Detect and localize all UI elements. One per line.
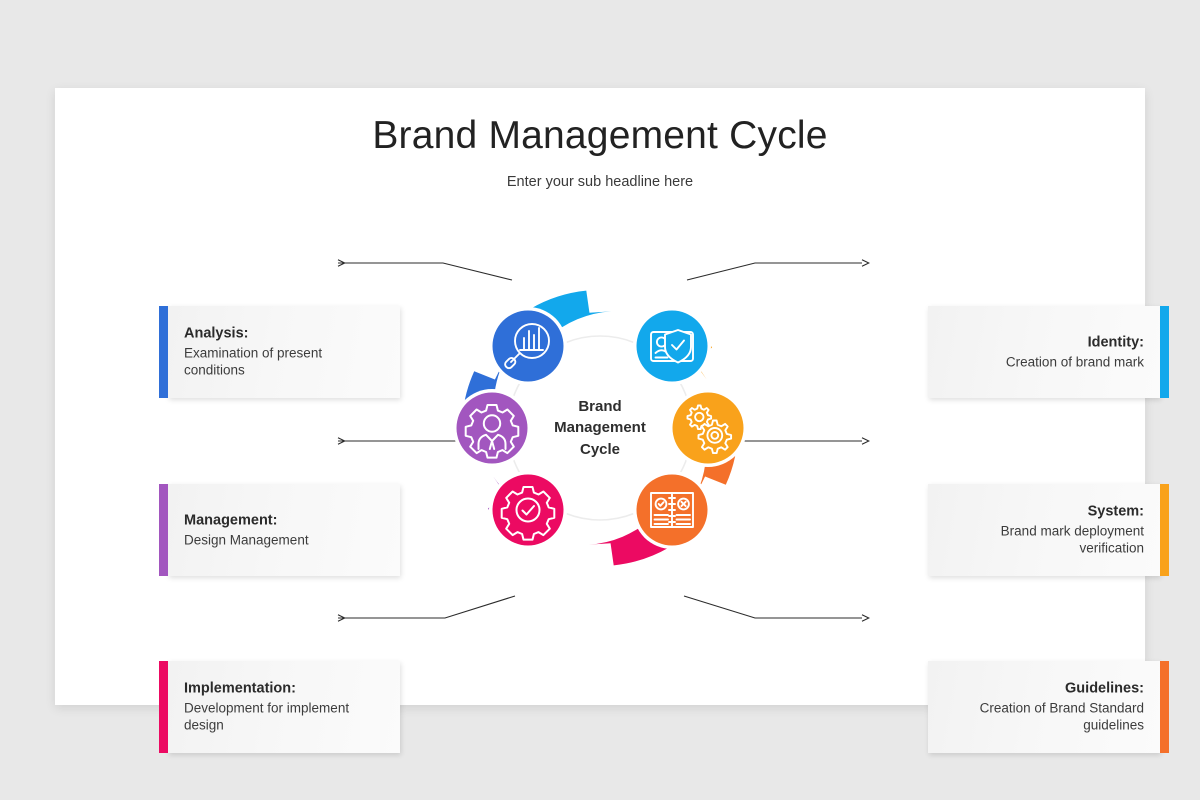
card-text: Identity: Creation of brand mark (944, 333, 1144, 370)
cycle-node-analysis-circle[interactable] (493, 311, 564, 382)
cycle-node-identity[interactable] (633, 307, 711, 385)
cycle-node-analysis[interactable] (489, 307, 567, 385)
card-text: Implementation: Development for implemen… (184, 680, 384, 735)
page-subtitle: Enter your sub headline here (55, 174, 1145, 190)
cycle-node-management-circle[interactable] (457, 393, 528, 464)
card-system[interactable]: System: Brand mark deployment verificati… (928, 484, 1160, 576)
card-heading: Analysis: (184, 325, 384, 344)
card-accent-bar (1160, 661, 1169, 753)
cycle-node-system[interactable] (669, 389, 747, 467)
card-analysis[interactable]: Analysis: Examination of present conditi… (168, 306, 400, 398)
card-body: Design Management (184, 531, 384, 549)
center-line-2: Management (520, 417, 680, 438)
card-heading: Guidelines: (944, 680, 1144, 699)
card-accent-bar (159, 661, 168, 753)
card-heading: Identity: (944, 333, 1144, 352)
card-guidelines[interactable]: Guidelines: Creation of Brand Standard g… (928, 661, 1160, 753)
page-title: Brand Management Cycle (55, 114, 1145, 158)
slide-canvas: Brand Management Cycle Enter your sub he… (55, 88, 1145, 705)
card-identity[interactable]: Identity: Creation of brand mark (928, 306, 1160, 398)
card-text: Guidelines: Creation of Brand Standard g… (944, 680, 1144, 735)
card-text: Management: Design Management (184, 511, 384, 548)
cycle-node-implementation[interactable] (489, 471, 567, 549)
card-body: Brand mark deployment verification (944, 522, 1144, 557)
card-management[interactable]: Management: Design Management (168, 484, 400, 576)
connector-implementation (338, 596, 515, 618)
card-accent-bar (1160, 306, 1169, 398)
cycle-node-implementation-circle[interactable] (493, 475, 564, 546)
card-accent-bar (159, 306, 168, 398)
card-body: Development for implement design (184, 699, 384, 734)
center-line-1: Brand (520, 396, 680, 417)
card-text: System: Brand mark deployment verificati… (944, 503, 1144, 558)
card-body: Examination of present conditions (184, 344, 384, 379)
card-text: Analysis: Examination of present conditi… (184, 325, 384, 380)
center-line-3: Cycle (520, 439, 680, 460)
card-implementation[interactable]: Implementation: Development for implemen… (168, 661, 400, 753)
card-accent-bar (159, 484, 168, 576)
card-accent-bar (1160, 484, 1169, 576)
brand-management-cycle-ring: Brand Management Cycle (440, 268, 760, 588)
connector-guidelines (684, 596, 862, 618)
card-body: Creation of Brand Standard guidelines (944, 699, 1144, 734)
card-heading: Implementation: (184, 680, 384, 699)
cycle-center-label: Brand Management Cycle (520, 396, 680, 460)
card-heading: System: (944, 503, 1144, 522)
cycle-node-guidelines[interactable] (633, 471, 711, 549)
card-heading: Management: (184, 511, 384, 530)
card-body: Creation of brand mark (944, 353, 1144, 371)
